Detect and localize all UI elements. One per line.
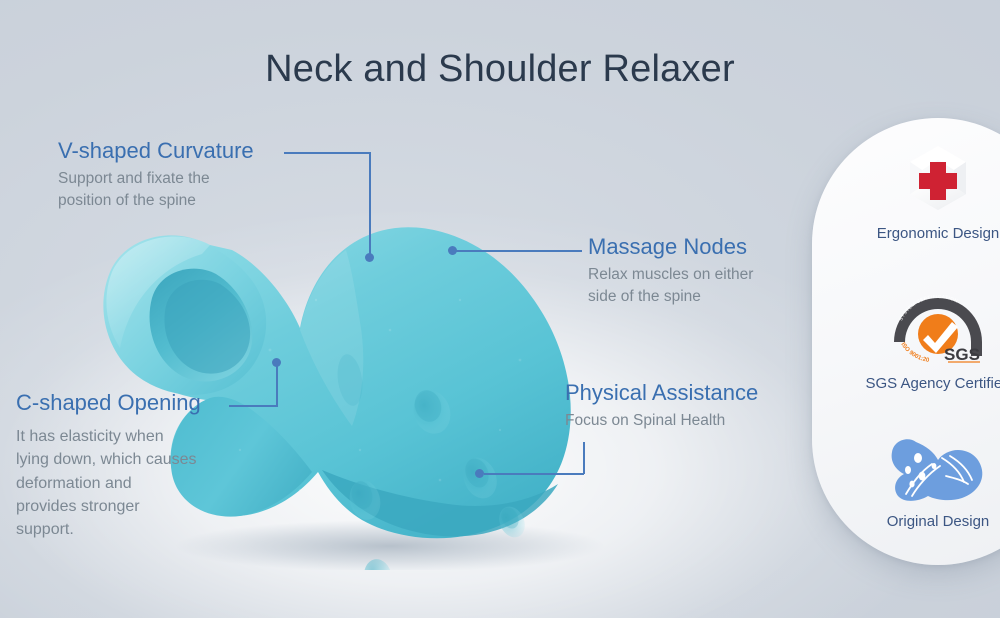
leader-line-c-shaped-vertical: [276, 364, 278, 407]
svg-text:SGS: SGS: [944, 345, 980, 364]
callout-body: It has elasticity when lying down, which…: [16, 425, 201, 541]
badge-sgs-certified: SYSTEM CERTIFICATION ISO 9001:2000 SGS S…: [850, 290, 1000, 392]
badge-label: Ergonomic Design: [850, 225, 1000, 242]
callout-heading: C-shaped Opening: [16, 390, 201, 415]
callout-physical-assistance: Physical Assistance Focus on Spinal Heal…: [565, 380, 758, 432]
callout-c-shaped-opening: C-shaped Opening It has elasticity when …: [16, 390, 201, 541]
callout-heading: Massage Nodes: [588, 234, 753, 259]
leader-line-physical-vertical: [583, 442, 585, 474]
certification-card: Ergonomic Design SYS: [812, 118, 1000, 565]
callout-body-line: side of the spine: [588, 286, 753, 307]
leader-line-physical-horizontal: [484, 473, 584, 475]
leader-line-c-shaped-horizontal: [229, 405, 278, 407]
callout-body: Focus on Spinal Health: [565, 410, 758, 431]
leader-dot-physical: [475, 469, 484, 478]
leader-line-v-shaped-horizontal: [284, 152, 370, 154]
callout-v-shaped-curvature: V-shaped Curvature Support and fixate th…: [58, 138, 254, 211]
badge-label: Original Design: [850, 513, 1000, 530]
red-cross-hexagon-icon: [850, 140, 1000, 218]
leader-line-v-shaped-vertical: [369, 152, 371, 257]
leader-dot-v-shaped: [365, 253, 374, 262]
infographic-canvas: Neck and Shoulder Relaxer: [0, 0, 1000, 618]
page-title: Neck and Shoulder Relaxer: [0, 48, 1000, 91]
callout-body-line: position of the spine: [58, 190, 254, 211]
callout-heading: Physical Assistance: [565, 380, 758, 405]
callout-body-line: It has elasticity when: [16, 425, 201, 448]
sgs-iso-certification-icon: SYSTEM CERTIFICATION ISO 9001:2000 SGS: [850, 290, 1000, 368]
badge-original-design: Original Design: [850, 428, 1000, 530]
callout-body-line: Focus on Spinal Health: [565, 410, 758, 431]
callout-body-line: support.: [16, 518, 201, 541]
callout-body-line: provides stronger: [16, 495, 201, 518]
badge-ergonomic-design: Ergonomic Design: [850, 140, 1000, 242]
callout-body-line: deformation and: [16, 472, 201, 495]
badge-label: SGS Agency Certified: [850, 375, 1000, 392]
callout-body: Support and fixate the position of the s…: [58, 168, 254, 211]
callout-body: Relax muscles on either side of the spin…: [588, 264, 753, 307]
pillow-silhouette-icon: [850, 428, 1000, 506]
callout-body-line: lying down, which causes: [16, 448, 201, 471]
callout-body-line: Relax muscles on either: [588, 264, 753, 285]
callout-massage-nodes: Massage Nodes Relax muscles on either si…: [588, 234, 753, 307]
callout-heading: V-shaped Curvature: [58, 138, 254, 163]
callout-body-line: Support and fixate the: [58, 168, 254, 189]
leader-line-massage-nodes: [456, 250, 582, 252]
